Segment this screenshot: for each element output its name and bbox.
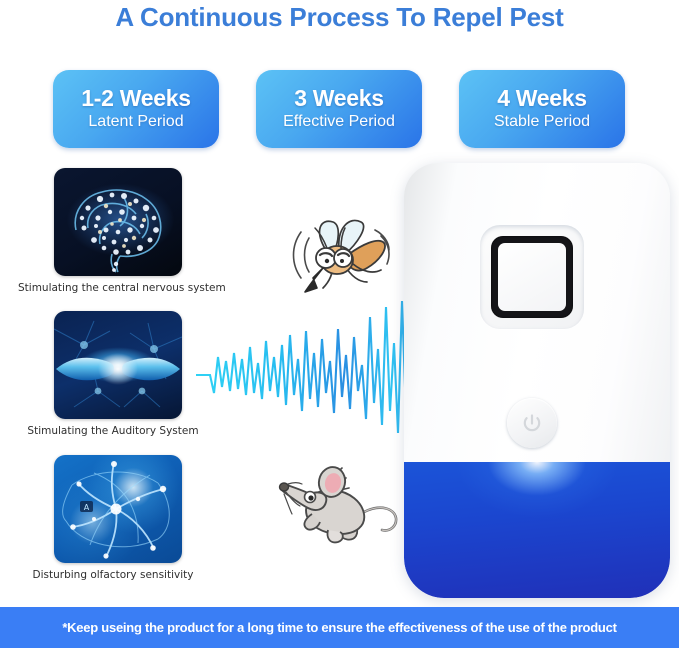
badge-period-label: Stable Period <box>494 112 590 133</box>
mouse-illustration <box>276 456 400 554</box>
synapse-illustration <box>54 311 182 419</box>
power-icon <box>519 410 545 436</box>
neuron-network-illustration: A <box>54 455 182 563</box>
device-body <box>404 163 670 598</box>
footer-banner: *Keep useing the product for a long time… <box>0 607 679 648</box>
feature-central-nervous-system: Stimulating the central nervous system <box>48 168 188 294</box>
timeline-badge-stable: 4 Weeks Stable Period <box>459 70 625 148</box>
timeline-badge-row: 1-2 Weeks Latent Period 3 Weeks Effectiv… <box>0 70 679 150</box>
feature-caption: Disturbing olfactory sensitivity <box>18 569 208 581</box>
svg-text:A: A <box>84 503 90 512</box>
blue-led-night-light <box>404 462 670 598</box>
ultrasonic-waveform <box>196 295 436 475</box>
speaker-grille-face <box>498 243 566 311</box>
badge-weeks-label: 3 Weeks <box>294 86 384 110</box>
feature-caption: Stimulating the Auditory System <box>18 425 208 437</box>
badge-weeks-label: 4 Weeks <box>497 86 587 110</box>
feature-caption: Stimulating the central nervous system <box>18 282 208 294</box>
feature-olfactory-sensitivity: A Disturbing olfactory sensitivity <box>48 455 188 581</box>
badge-weeks-label: 1-2 Weeks <box>81 86 190 110</box>
product-infographic: A Continuous Process To Repel Pest 1-2 W… <box>0 0 679 648</box>
speaker-grille <box>480 225 584 329</box>
footer-banner-text: *Keep useing the product for a long time… <box>62 620 616 635</box>
brain-illustration <box>54 168 182 276</box>
timeline-badge-effective: 3 Weeks Effective Period <box>256 70 422 148</box>
badge-period-label: Effective Period <box>283 112 395 133</box>
mosquito-illustration <box>283 208 403 308</box>
badge-period-label: Latent Period <box>88 112 183 133</box>
timeline-badge-latent: 1-2 Weeks Latent Period <box>53 70 219 148</box>
power-button[interactable] <box>507 398 557 448</box>
feature-auditory-system: Stimulating the Auditory System <box>48 311 188 437</box>
ultrasonic-pest-repeller <box>404 163 679 598</box>
speaker-grille-inner <box>491 236 573 318</box>
page-title: A Continuous Process To Repel Pest <box>0 2 679 33</box>
